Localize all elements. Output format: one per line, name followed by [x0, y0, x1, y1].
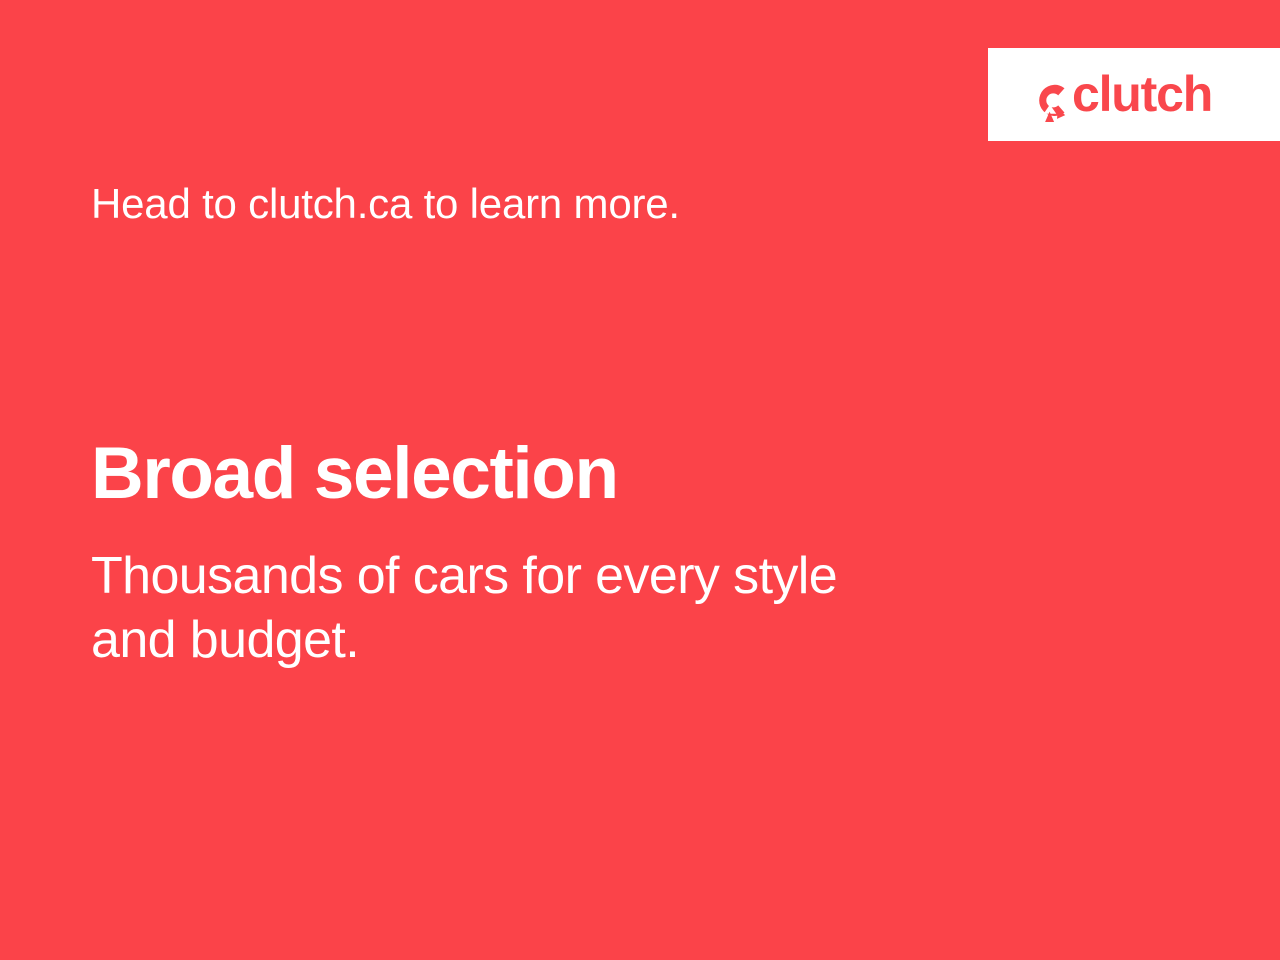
brand-logo-plate[interactable]: clutch [988, 48, 1280, 141]
clutch-c-tire-mark-icon [1030, 70, 1070, 123]
subheadline: Thousands of cars for every style and bu… [91, 544, 1051, 673]
kicker-text: Head to clutch.ca to learn more. [91, 179, 680, 229]
subheadline-line-1: Thousands of cars for every style [91, 544, 1051, 608]
clutch-wordmark-text: clutch [1072, 70, 1212, 122]
slide-canvas: clutch Head to clutch.ca to learn more. … [0, 0, 1280, 960]
clutch-wordmark: clutch [1072, 70, 1244, 123]
page-title: Broad selection [91, 437, 618, 510]
subheadline-line-2: and budget. [91, 608, 1051, 672]
clutch-logo-lockup[interactable]: clutch [1030, 67, 1244, 123]
